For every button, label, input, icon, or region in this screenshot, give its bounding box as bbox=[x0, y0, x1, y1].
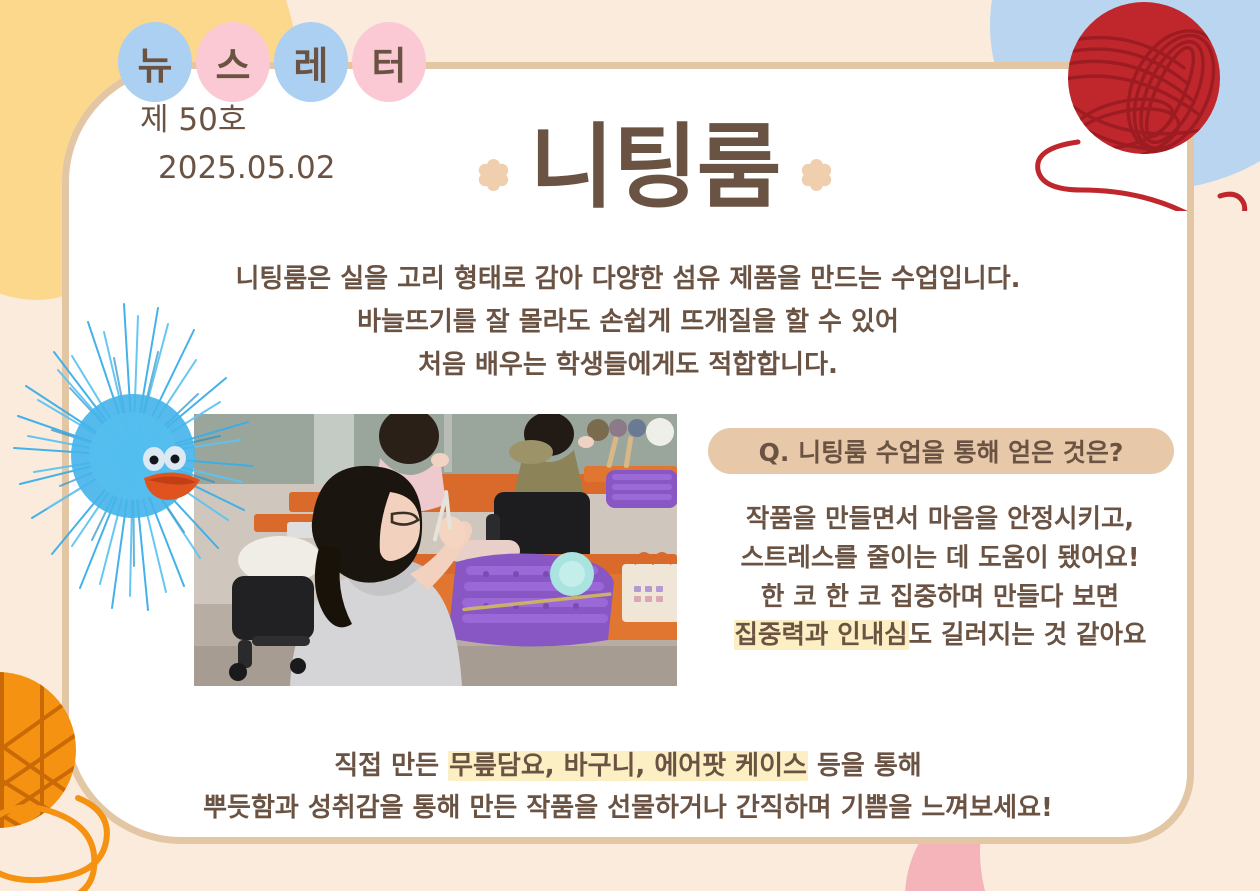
page-title: 니팅룸 bbox=[530, 122, 781, 214]
answer-line-1: 작품을 만들면서 마음을 안정시키고, bbox=[690, 500, 1190, 539]
answer-highlight: 집중력과 인내심 bbox=[734, 620, 909, 650]
answer-text: 작품을 만들면서 마음을 안정시키고, bbox=[746, 504, 1134, 534]
issue-number: 제 50호 bbox=[140, 96, 336, 144]
footer-text: 직접 만든 bbox=[334, 751, 448, 781]
interview-answer: 작품을 만들면서 마음을 안정시키고, 스트레스를 줄이는 데 도움이 됐어요!… bbox=[690, 500, 1190, 655]
footer-highlight: 무릎담요, 바구니, 에어팟 케이스 bbox=[448, 751, 808, 781]
description-line-2: 바늘뜨기를 잘 몰라도 손쉽게 뜨개질을 할 수 있어 bbox=[62, 301, 1194, 344]
footer-text: 등을 통해 bbox=[808, 751, 922, 781]
answer-line-2: 스트레스를 줄이는 데 도움이 됐어요! bbox=[690, 539, 1190, 578]
answer-line-4: 집중력과 인내심도 길러지는 것 같아요 bbox=[690, 616, 1190, 655]
answer-text: 스트레스를 줄이는 데 도움이 됐어요! bbox=[740, 543, 1139, 573]
asterisk-flower-icon-left bbox=[476, 157, 512, 193]
answer-text: 한 코 한 코 집중하며 만들다 보면 bbox=[761, 582, 1119, 612]
badge-label-1: 뉴 bbox=[138, 35, 173, 90]
answer-line-3: 한 코 한 코 집중하며 만들다 보면 bbox=[690, 578, 1190, 617]
footer-text: 뿌듯함과 성취감을 통해 만든 작품을 선물하거나 간직하며 기쁨을 느껴보세요… bbox=[203, 793, 1053, 823]
title-block: 니팅룸 bbox=[420, 108, 890, 228]
badge-circle-2: 스 bbox=[196, 22, 270, 102]
description-line-1: 니팅룸은 실을 고리 형태로 감아 다양한 섬유 제품을 만드는 수업입니다. bbox=[62, 258, 1194, 301]
badge-circle-3: 레 bbox=[274, 22, 348, 102]
badge-label-3: 레 bbox=[294, 35, 329, 90]
badge-circle-4: 터 bbox=[352, 22, 426, 102]
description-line-3: 처음 배우는 학생들에게도 적합합니다. bbox=[62, 344, 1194, 387]
interview-question-banner: Q. 니팅룸 수업을 통해 얻은 것은? bbox=[708, 428, 1174, 474]
asterisk-flower-icon-right bbox=[798, 157, 834, 193]
newsletter-poster: 뉴 스 레 터 제 50호 2025.05.02 니팅룸 니팅룸은 실을 고리 … bbox=[0, 0, 1260, 891]
answer-text: 도 길러지는 것 같아요 bbox=[909, 620, 1147, 650]
badge-circle-1: 뉴 bbox=[118, 22, 192, 102]
issue-date: 2025.05.02 bbox=[158, 144, 336, 192]
issue-meta: 제 50호 2025.05.02 bbox=[140, 96, 336, 192]
badge-label-4: 터 bbox=[372, 35, 407, 90]
orange-yarn-ball-decoration bbox=[0, 668, 250, 891]
red-yarn-ball-decoration bbox=[1020, 0, 1260, 211]
class-photo bbox=[194, 414, 677, 686]
interview-question-text: Q. 니팅룸 수업을 통해 얻은 것은? bbox=[759, 433, 1124, 469]
badge-label-2: 스 bbox=[216, 35, 251, 90]
course-description: 니팅룸은 실을 고리 형태로 감아 다양한 섬유 제품을 만드는 수업입니다. … bbox=[62, 258, 1194, 387]
newsletter-badge-row: 뉴 스 레 터 bbox=[118, 22, 426, 102]
